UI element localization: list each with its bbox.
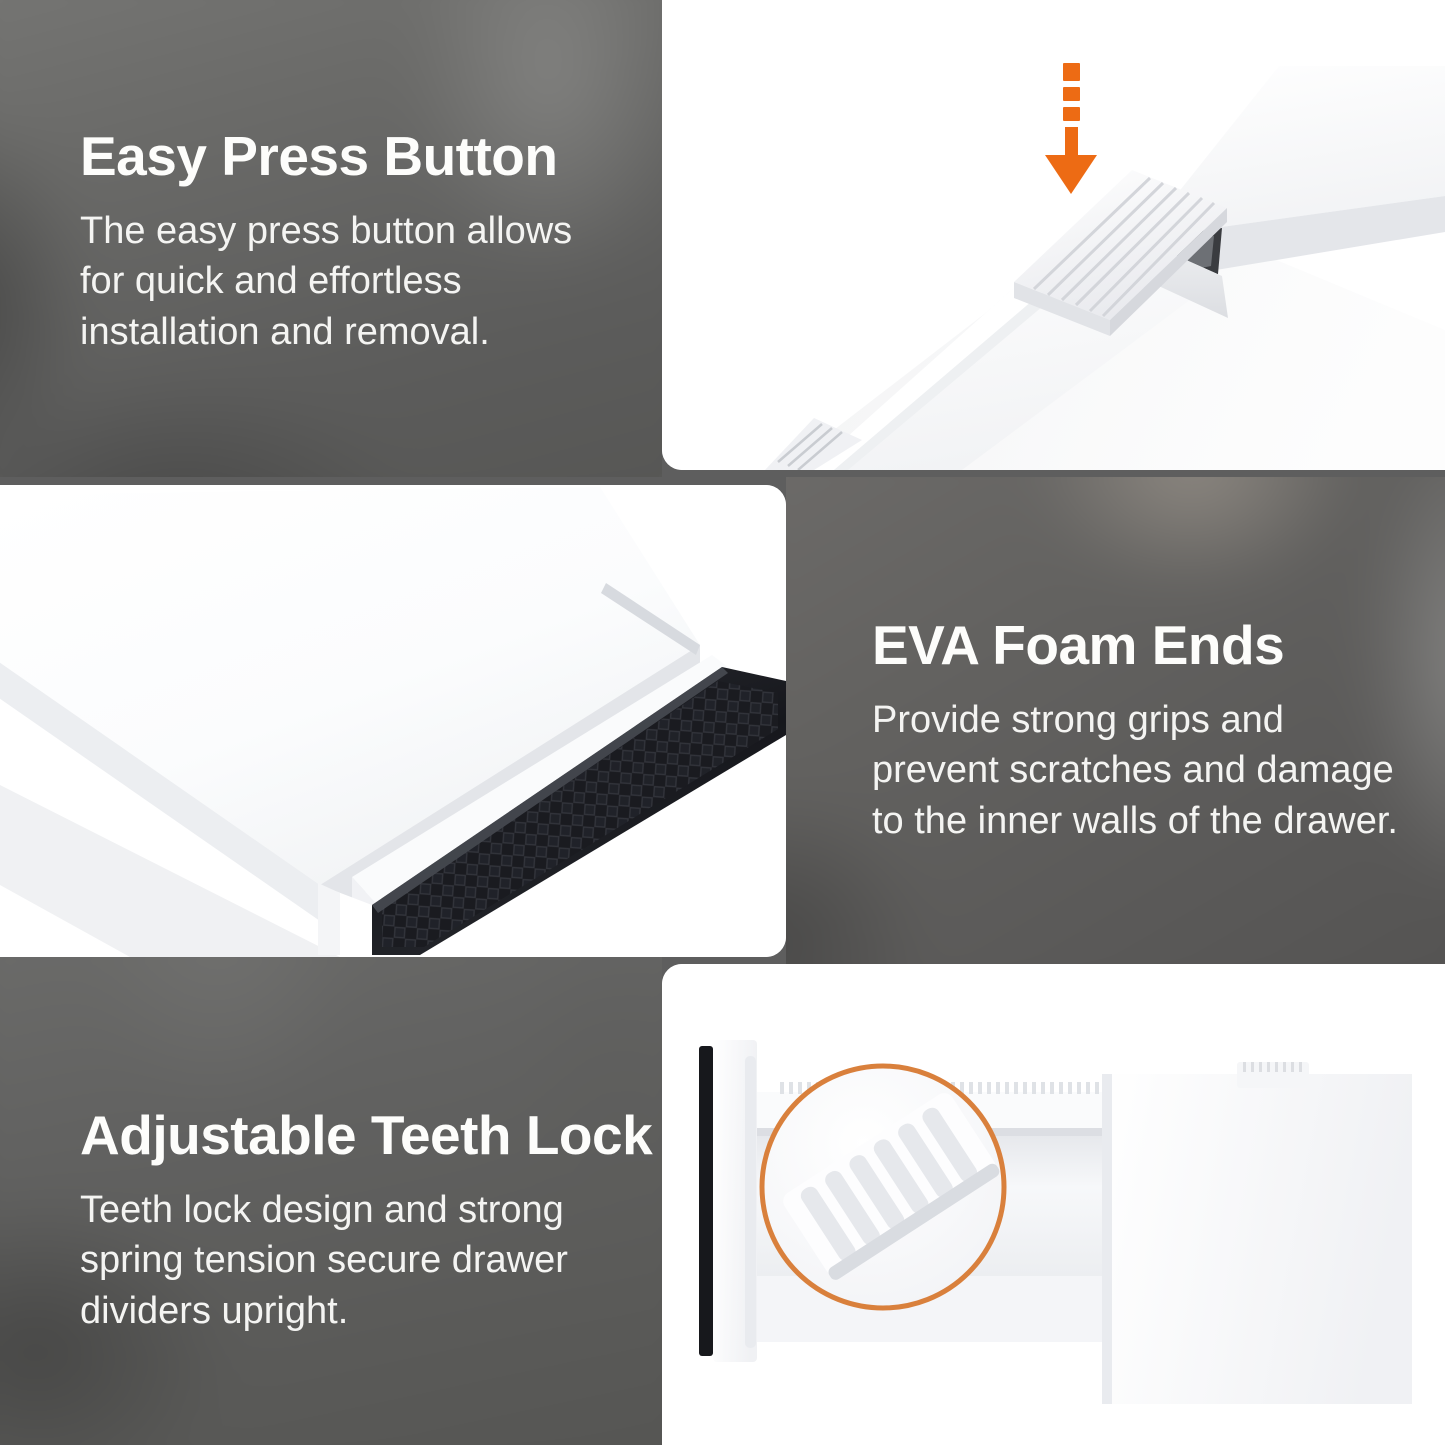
- feature-title-easy-press-button: Easy Press Button: [80, 128, 620, 186]
- feature-text-block: EVA Foam Ends Provide strong grips and p…: [872, 617, 1412, 846]
- product-photo-eva-foam-end: [0, 485, 786, 957]
- feature-body-adjustable-teeth-lock: Teeth lock design and strong spring tens…: [80, 1185, 640, 1337]
- feature-text-block: Easy Press Button The easy press button …: [80, 128, 620, 357]
- feature-text-panel-adjustable-teeth-lock: Adjustable Teeth Lock Teeth lock design …: [0, 957, 662, 1445]
- feature-body-easy-press-button: The easy press button allows for quick a…: [80, 206, 620, 358]
- feature-body-eva-foam-ends: Provide strong grips and prevent scratch…: [872, 695, 1412, 847]
- product-photo-teeth-lock: [662, 964, 1445, 1445]
- product-feature-infographic: Easy Press Button The easy press button …: [0, 0, 1445, 1445]
- teeth-lock-illustration: [662, 964, 1445, 1445]
- feature-text-block: Adjustable Teeth Lock Teeth lock design …: [80, 1107, 640, 1336]
- top-press-tab: [1237, 1062, 1309, 1088]
- eva-foam-end-illustration: [0, 485, 786, 957]
- press-button-illustration: [662, 0, 1445, 470]
- product-photo-press-button: [662, 0, 1445, 470]
- feature-title-eva-foam-ends: EVA Foam Ends: [872, 617, 1412, 675]
- feature-text-panel-eva-foam-ends: EVA Foam Ends Provide strong grips and p…: [786, 477, 1445, 964]
- feature-text-panel-easy-press-button: Easy Press Button The easy press button …: [0, 0, 662, 477]
- feature-title-adjustable-teeth-lock: Adjustable Teeth Lock: [80, 1107, 640, 1165]
- left-foam-strip: [699, 1046, 713, 1356]
- teeth-lock-callout: [762, 1066, 1004, 1308]
